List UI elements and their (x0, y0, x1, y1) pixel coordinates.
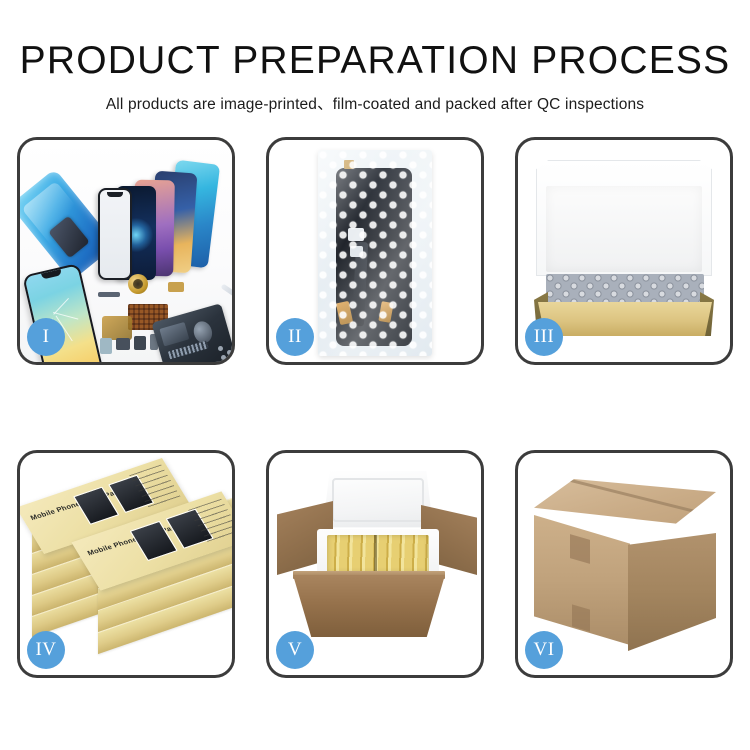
spare-parts-cluster (106, 272, 232, 362)
step-badge-3: III (525, 318, 563, 356)
step-badge-6: VI (525, 631, 563, 669)
packed-boxes-graphic (327, 535, 429, 573)
speaker-module-graphic (128, 274, 148, 294)
screen-glass-graphic (98, 188, 132, 280)
process-step-card-5[interactable]: V (266, 450, 484, 678)
step-badge-4: IV (27, 631, 65, 669)
notch-graphic (107, 192, 123, 197)
carton-body-graphic (293, 575, 445, 637)
page-subtitle: All products are image-printed、film-coat… (0, 82, 750, 114)
notch-graphic (41, 269, 62, 279)
step-badge-5: V (276, 631, 314, 669)
plastic-sheen (318, 150, 432, 356)
bubble-wrap-bag-graphic (318, 150, 432, 356)
flex-cable-graphic (102, 316, 132, 340)
screws-graphic (218, 346, 232, 360)
process-step-grid: I II (17, 137, 733, 678)
bubble-wrap-layer-graphic (546, 274, 704, 306)
process-step-card-3[interactable]: III (515, 137, 733, 365)
page-header: PRODUCT PREPARATION PROCESS All products… (0, 0, 750, 114)
process-step-card-1[interactable]: I (17, 137, 235, 365)
styrofoam-lid-graphic (323, 471, 433, 535)
step-badge-1: I (27, 318, 65, 356)
carton-seam (558, 476, 696, 513)
sealed-carton-graphic (534, 479, 716, 647)
box-front-panel-graphic (538, 302, 712, 336)
carton-side-face (628, 533, 716, 651)
phone-fan-group (94, 158, 232, 288)
process-step-card-6[interactable]: VI (515, 450, 733, 678)
foam-sheet-graphic (546, 186, 702, 272)
page-title: PRODUCT PREPARATION PROCESS (0, 0, 750, 82)
step-badge-2: II (276, 318, 314, 356)
process-step-card-4[interactable]: Mobile Phone Spare Parts Mobile Phone Sp… (17, 450, 235, 678)
process-step-card-2[interactable]: II (266, 137, 484, 365)
